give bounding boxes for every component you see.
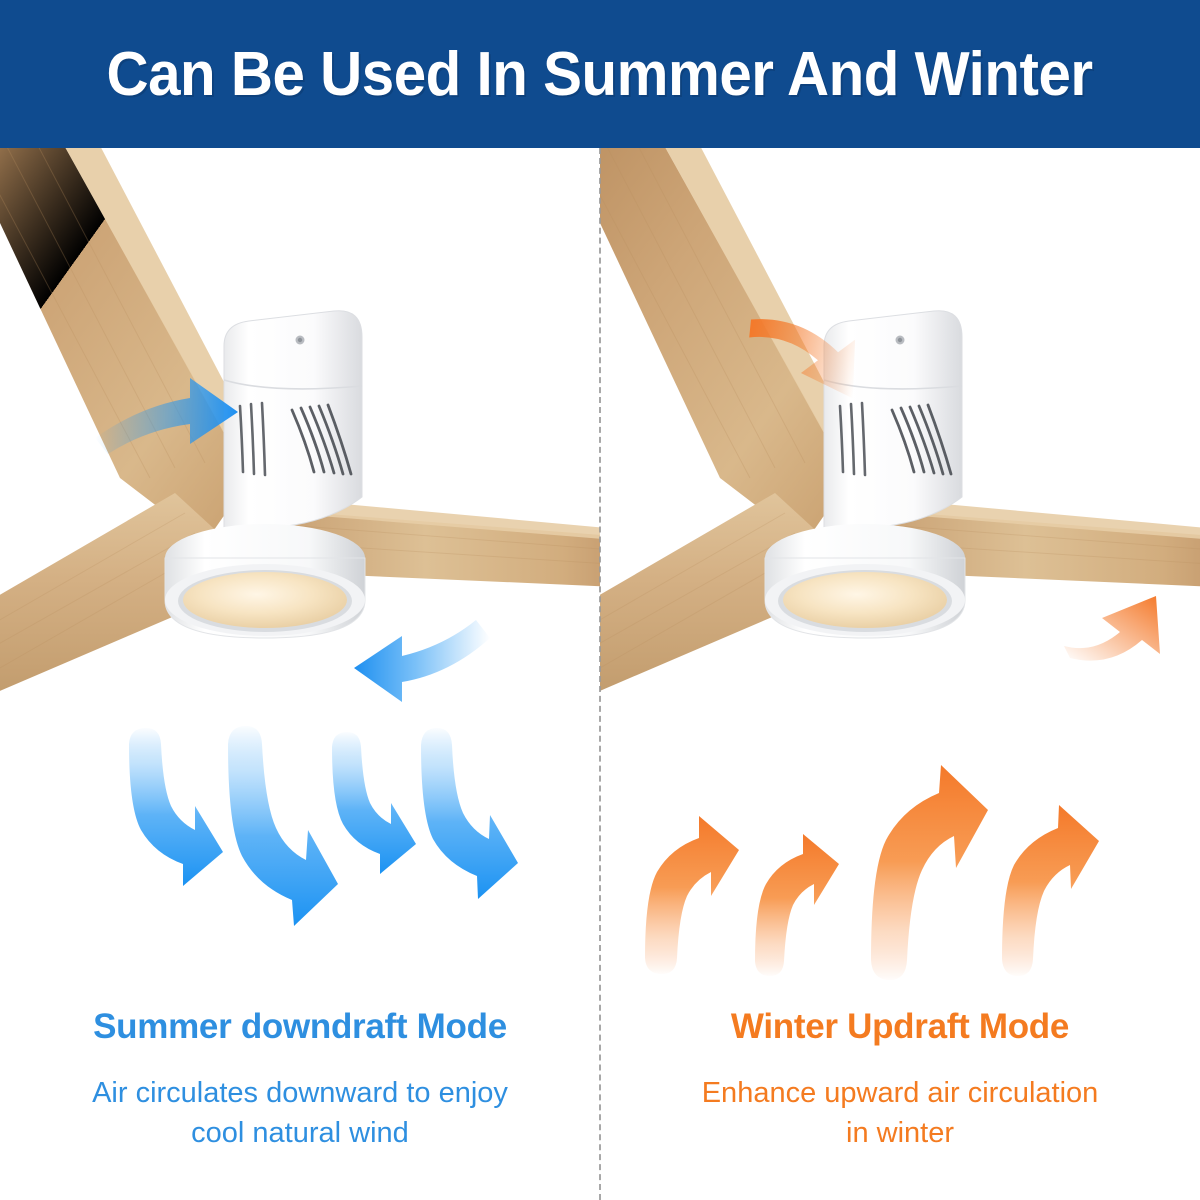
fan-illustration-winter (600, 148, 1200, 748)
motor-housing (224, 311, 362, 531)
caption-desc-line-1: Enhance upward air circulation (628, 1073, 1172, 1113)
led-light-panel (783, 572, 947, 628)
motor-housing (824, 311, 962, 531)
caption-desc-line-2: in winter (628, 1113, 1172, 1153)
product-feature-page: Can Be Used In Summer And Winter (0, 0, 1200, 1200)
panel-winter: Winter Updraft Mode Enhance upward air c… (600, 148, 1200, 1200)
up-arrow-group (645, 765, 1099, 980)
panel-summer: Summer downdraft Mode Air circulates dow… (0, 148, 600, 1200)
rotation-arrow-orange-bottom (1064, 596, 1160, 661)
caption-winter: Winter Updraft Mode Enhance upward air c… (600, 1008, 1200, 1153)
fan-illustration-summer (0, 148, 600, 748)
caption-desc-line-2: cool natural wind (28, 1113, 572, 1153)
airflow-arrows-up (600, 718, 1200, 988)
caption-desc-line-1: Air circulates downward to enjoy (28, 1073, 572, 1113)
down-arrow-group (129, 726, 518, 926)
rotation-arrow-blue-bottom (354, 620, 490, 702)
caption-title-summer: Summer downdraft Mode (28, 1008, 572, 1047)
caption-summer: Summer downdraft Mode Air circulates dow… (0, 1008, 600, 1153)
airflow-arrows-down (0, 718, 600, 988)
header-banner: Can Be Used In Summer And Winter (0, 0, 1200, 148)
page-title: Can Be Used In Summer And Winter (107, 39, 1093, 110)
led-light-panel (183, 572, 347, 628)
caption-description-winter: Enhance upward air circulation in winter (628, 1073, 1172, 1153)
caption-title-winter: Winter Updraft Mode (628, 1008, 1172, 1047)
caption-description-summer: Air circulates downward to enjoy cool na… (28, 1073, 572, 1153)
panel-divider (599, 148, 601, 1200)
